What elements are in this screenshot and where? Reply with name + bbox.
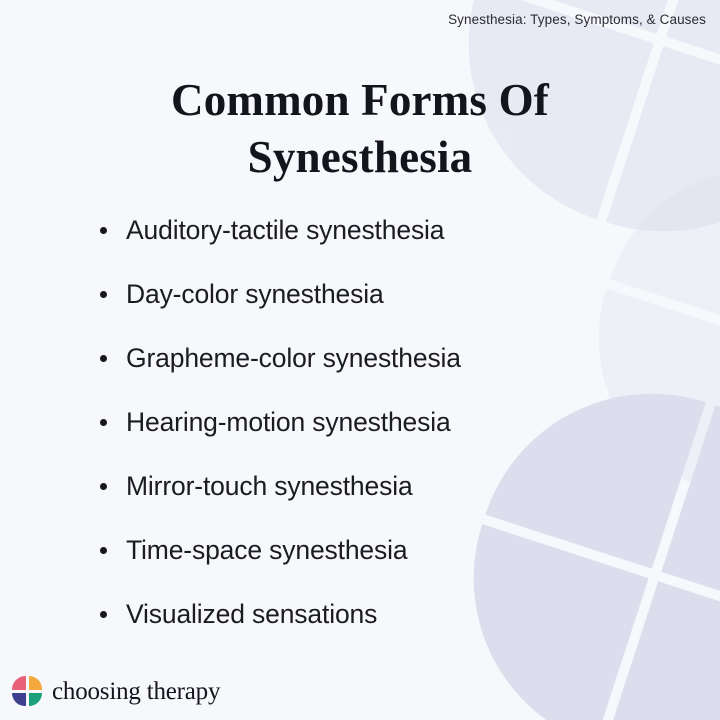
logo-quadrant-bottom-right — [29, 693, 43, 707]
list-item-label: Grapheme-color synesthesia — [126, 343, 461, 373]
page-title-line-1: Common Forms Of — [0, 72, 720, 129]
list-item: Grapheme-color synesthesia — [96, 340, 656, 404]
list-item-label: Time-space synesthesia — [126, 535, 407, 565]
brand-wordmark: choosing therapy — [52, 679, 220, 704]
list-item: Time-space synesthesia — [96, 532, 656, 596]
list-item-label: Visualized sensations — [126, 599, 377, 629]
article-kicker: Synesthesia: Types, Symptoms, & Causes — [448, 12, 706, 27]
infographic-canvas: Synesthesia: Types, Symptoms, & Causes C… — [0, 0, 720, 720]
logo-quadrant-bottom-left — [12, 693, 26, 707]
brand-footer: choosing therapy — [12, 676, 220, 706]
list-item: Hearing-motion synesthesia — [96, 404, 656, 468]
list-item: Visualized sensations — [96, 596, 656, 660]
list-item-label: Auditory-tactile synesthesia — [126, 215, 444, 245]
list-item-label: Mirror-touch synesthesia — [126, 471, 413, 501]
list-item-label: Hearing-motion synesthesia — [126, 407, 451, 437]
page-title: Common Forms Of Synesthesia — [0, 72, 720, 186]
bullet-dot-icon — [100, 355, 107, 362]
infographic-content: Synesthesia: Types, Symptoms, & Causes C… — [0, 0, 720, 720]
page-title-line-2: Synesthesia — [0, 129, 720, 186]
list-item-label: Day-color synesthesia — [126, 279, 384, 309]
bullet-dot-icon — [100, 611, 107, 618]
list-item: Day-color synesthesia — [96, 276, 656, 340]
bullet-dot-icon — [100, 291, 107, 298]
list-item: Mirror-touch synesthesia — [96, 468, 656, 532]
bullet-dot-icon — [100, 419, 107, 426]
logo-quadrant-top-right — [29, 676, 43, 690]
bullet-dot-icon — [100, 483, 107, 490]
logo-quadrant-top-left — [12, 676, 26, 690]
choosing-therapy-logo-icon — [12, 676, 42, 706]
synesthesia-forms-list: Auditory-tactile synesthesiaDay-color sy… — [96, 212, 656, 660]
bullet-dot-icon — [100, 547, 107, 554]
list-item: Auditory-tactile synesthesia — [96, 212, 656, 276]
bullet-dot-icon — [100, 227, 107, 234]
